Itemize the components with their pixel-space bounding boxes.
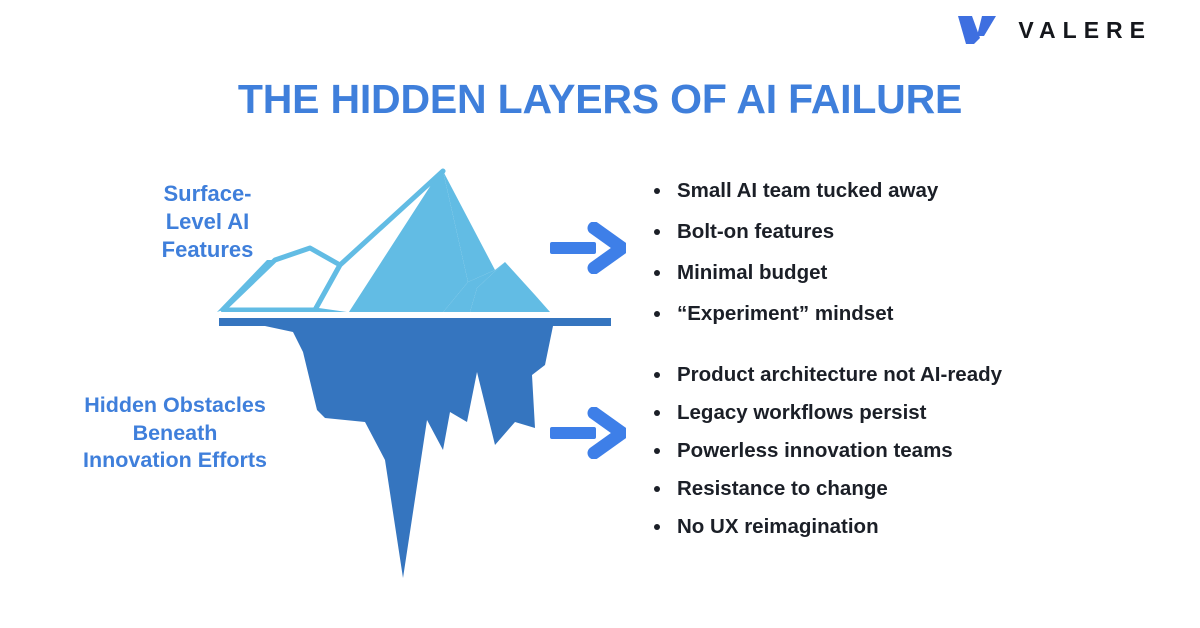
bullet-list-surface-level: Small AI team tucked away Bolt-on featur… [648, 181, 938, 345]
bullet-dot-icon [654, 372, 660, 378]
list-item: Product architecture not AI-ready [648, 365, 1002, 386]
list-item-label: Resistance to change [677, 477, 888, 500]
label-line: Features [120, 236, 295, 264]
list-item: Powerless innovation teams [648, 441, 1002, 462]
list-item-label: No UX reimagination [677, 515, 879, 538]
label-hidden-obstacles: Hidden Obstacles Beneath Innovation Effo… [40, 392, 310, 475]
bullet-dot-icon [654, 448, 660, 454]
brand-wordmark: VALERE [1016, 19, 1152, 42]
list-item: Bolt-on features [648, 222, 938, 243]
list-item: Resistance to change [648, 479, 1002, 500]
label-surface-level-ai-features: Surface- Level AI Features [120, 180, 295, 264]
list-item-label: Small AI team tucked away [677, 179, 938, 202]
bullet-dot-icon [654, 188, 660, 194]
bullet-dot-icon [654, 524, 660, 530]
list-item: Legacy workflows persist [648, 403, 1002, 424]
bullet-list-hidden-obstacles: Product architecture not AI-ready Legacy… [648, 365, 1002, 555]
bullet-dot-icon [654, 270, 660, 276]
waterline [219, 318, 611, 326]
label-line: Surface- [120, 180, 295, 208]
list-item-label: Powerless innovation teams [677, 439, 953, 462]
list-item: No UX reimagination [648, 517, 1002, 538]
bullet-dot-icon [654, 229, 660, 235]
bullet-dot-icon [654, 311, 660, 317]
list-item: Small AI team tucked away [648, 181, 938, 202]
label-line: Level AI [120, 208, 295, 236]
arrow-right-icon [548, 407, 626, 459]
bullet-dot-icon [654, 486, 660, 492]
bullet-dot-icon [654, 410, 660, 416]
brand-logo: VALERE [958, 14, 1152, 46]
list-item-label: Legacy workflows persist [677, 401, 927, 424]
list-item-label: “Experiment” mindset [677, 302, 893, 325]
label-line: Beneath [40, 420, 310, 448]
label-line: Innovation Efforts [40, 447, 310, 475]
valere-v-mark-icon [958, 14, 1004, 46]
list-item-label: Product architecture not AI-ready [677, 363, 1002, 386]
page-title: THE HIDDEN LAYERS OF AI FAILURE [0, 76, 1200, 123]
arrow-right-icon [548, 222, 626, 274]
list-item-label: Bolt-on features [677, 220, 834, 243]
label-line: Hidden Obstacles [40, 392, 310, 420]
list-item: “Experiment” mindset [648, 304, 938, 325]
list-item-label: Minimal budget [677, 261, 827, 284]
list-item: Minimal budget [648, 263, 938, 284]
